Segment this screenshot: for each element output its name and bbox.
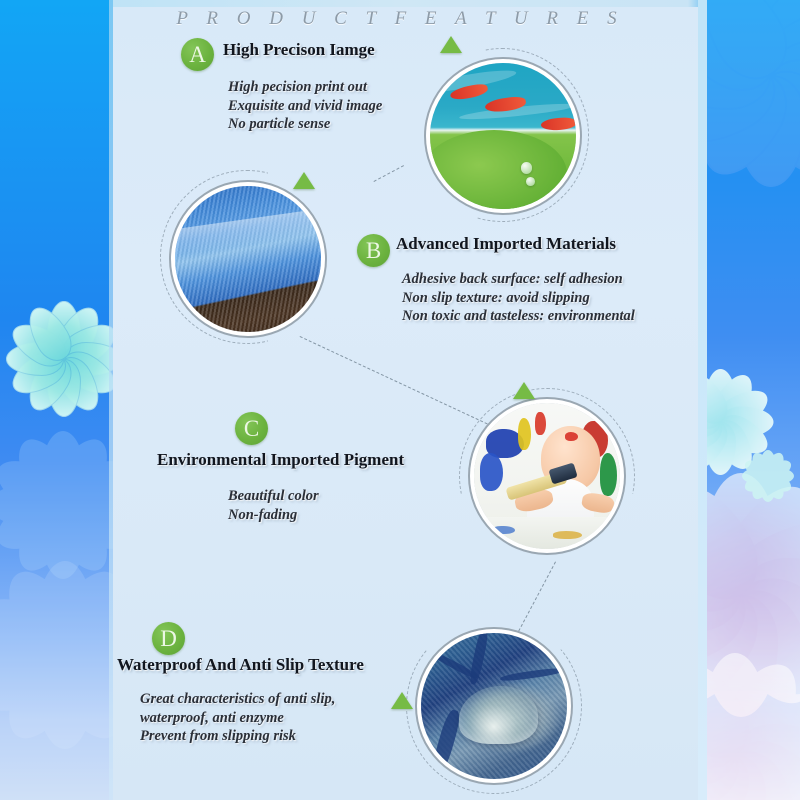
body-line: Exquisite and vivid image (228, 97, 382, 116)
ghost-flower-icon (0, 560, 113, 750)
badge-d: D (152, 622, 185, 655)
body-d: Great characteristics of anti slip, wate… (140, 690, 335, 746)
water-droplet-texture-photo (421, 633, 567, 779)
ghost-flower-icon (0, 430, 113, 580)
border-edge (698, 0, 707, 800)
photo-a (430, 63, 576, 209)
body-line: Great characteristics of anti slip, (140, 690, 335, 709)
body-line: Prevent from slipping risk (140, 727, 335, 746)
heading-b: Advanced Imported Materials (396, 234, 616, 254)
badge-c: C (235, 412, 268, 445)
badge-b: B (357, 234, 390, 267)
right-decorative-border (698, 0, 800, 800)
badge-a: A (181, 38, 214, 71)
body-c: Beautiful color Non-fading (228, 487, 319, 524)
cyan-flower-icon (5, 300, 113, 418)
body-line: Beautiful color (228, 487, 319, 506)
infographic-canvas: P R O D U C T F E A T U R E S A High Pre… (0, 0, 800, 800)
arrow-marker-a (440, 36, 462, 53)
body-line: waterproof, anti enzyme (140, 709, 335, 728)
body-line: High pecision print out (228, 78, 382, 97)
body-line: Adhesive back surface: self adhesion (402, 270, 635, 289)
body-a: High pecision print out Exquisite and vi… (228, 78, 382, 134)
body-line: No particle sense (228, 115, 382, 134)
top-accent-strip (0, 0, 800, 7)
photo-d (421, 633, 567, 779)
body-b: Adhesive back surface: self adhesion Non… (402, 270, 635, 326)
pink-flower-icon (698, 650, 800, 800)
photo-b (175, 186, 321, 332)
heading-c: Environmental Imported Pigment (157, 450, 404, 470)
photo-c (474, 403, 620, 549)
background-panel (0, 0, 800, 800)
border-edge (109, 0, 113, 800)
baby-painting-photo (474, 403, 620, 549)
arrow-marker-d (391, 692, 413, 709)
arrow-marker-b (293, 172, 315, 189)
heading-d: Waterproof And Anti Slip Texture (117, 655, 364, 675)
heading-a: High Precison Iamge (223, 40, 375, 60)
blue-fabric-roll-photo (175, 186, 321, 332)
body-line: Non slip texture: avoid slipping (402, 289, 635, 308)
arrow-marker-c (513, 382, 535, 399)
koi-fish-lily-pad-print-photo (430, 63, 576, 209)
body-line: Non-fading (228, 506, 319, 525)
body-line: Non toxic and tasteless: environmental (402, 307, 635, 326)
small-flower-icon (742, 450, 794, 502)
left-decorative-border (0, 0, 113, 800)
page-title: P R O D U C T F E A T U R E S (0, 8, 800, 30)
